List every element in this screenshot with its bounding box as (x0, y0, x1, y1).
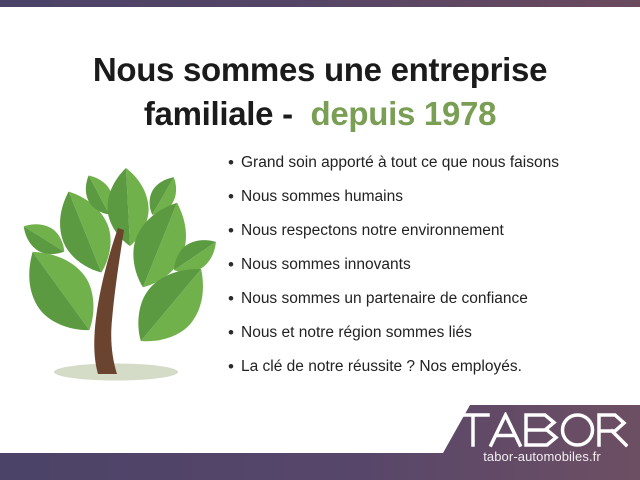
list-item: • Nous et notre région sommes liés (228, 320, 632, 354)
list-item: • La clé de notre réussite ? Nos employé… (228, 354, 632, 388)
list-item-label: La clé de notre réussite ? Nos employés. (241, 354, 522, 379)
list-item: • Nous sommes humains (228, 184, 632, 218)
bullet-marker-icon: • (228, 218, 241, 243)
brand-logo[interactable]: tabor-automobiles.fr (456, 412, 628, 464)
page-title: Nous sommes une entreprise familiale - d… (0, 48, 640, 136)
bullet-marker-icon: • (228, 184, 241, 209)
benefits-list: • Grand soin apporté à tout ce que nous … (228, 150, 632, 388)
list-item-label: Nous respectons notre environnement (241, 218, 504, 243)
footer: tabor-automobiles.fr (0, 400, 640, 480)
list-item: • Nous sommes un partenaire de confiance (228, 286, 632, 320)
headline-accent-year: depuis 1978 (311, 95, 497, 132)
list-item: • Grand soin apporté à tout ce que nous … (228, 150, 632, 184)
tree-illustration (8, 150, 223, 390)
brand-tagline: tabor-automobiles.fr (456, 449, 628, 464)
bullet-marker-icon: • (228, 150, 241, 175)
bullet-marker-icon: • (228, 252, 241, 277)
headline-line-2: familiale - depuis 1978 (0, 92, 640, 136)
list-item-label: Nous sommes un partenaire de confiance (241, 286, 528, 311)
top-accent-strip (0, 0, 640, 7)
list-item-label: Nous sommes humains (241, 184, 403, 209)
bullet-marker-icon: • (228, 286, 241, 311)
slide-canvas: Nous sommes une entreprise familiale - d… (0, 0, 640, 480)
bullet-marker-icon: • (228, 320, 241, 345)
list-item-label: Grand soin apporté à tout ce que nous fa… (241, 150, 559, 175)
list-item: • Nous sommes innovants (228, 252, 632, 286)
headline-line-2-plain: familiale - (144, 95, 311, 132)
list-item: • Nous respectons notre environnement (228, 218, 632, 252)
list-item-label: Nous sommes innovants (241, 252, 411, 277)
list-item-label: Nous et notre région sommes liés (241, 320, 472, 345)
bullet-marker-icon: • (228, 354, 241, 379)
headline-line-1: Nous sommes une entreprise (0, 48, 640, 92)
